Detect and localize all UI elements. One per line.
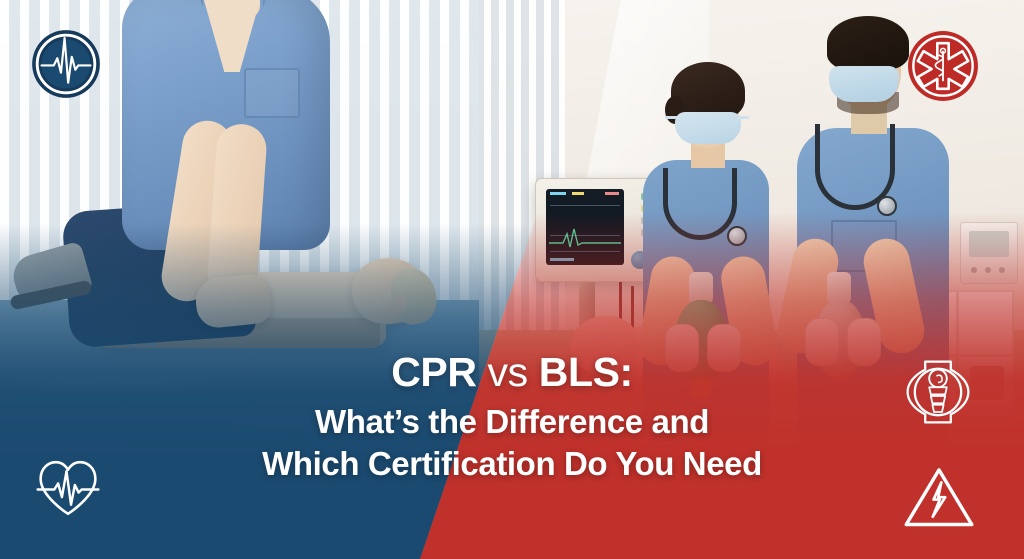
mask-ear-loop	[665, 116, 677, 119]
device-screen	[969, 231, 1009, 257]
title-line-2: What’s the Difference and	[0, 405, 1024, 438]
banner-title-block: CPR vs BLS: What’s the Difference and Wh…	[0, 352, 1024, 480]
title-bls: BLS:	[528, 349, 633, 395]
device-indicator	[971, 267, 977, 273]
title-cpr: CPR	[391, 349, 487, 395]
stethoscope-female	[663, 168, 737, 240]
stethoscope-bell	[877, 196, 897, 216]
title-line-3: Which Certification Do You Need	[0, 447, 1024, 480]
device-indicator	[999, 267, 1005, 273]
bedside-device	[960, 222, 1018, 284]
monitor-screen	[546, 189, 624, 265]
rescuer-stacked-hands	[194, 272, 273, 329]
title-line-1: CPR vs BLS:	[0, 352, 1024, 393]
cpr-vs-bls-banner: CPR vs BLS: What’s the Difference and Wh…	[0, 0, 1024, 559]
star-of-life-icon	[905, 28, 981, 104]
title-vs: vs	[488, 349, 528, 395]
manikin-ear	[392, 294, 407, 314]
device-indicator	[985, 267, 991, 273]
ecg-trace-icon	[549, 225, 621, 251]
rescuer-chest-pocket	[244, 68, 300, 118]
stethoscope-bell	[727, 226, 747, 246]
clinician-female-face-mask	[675, 112, 741, 144]
ecg-pulse-circle-icon	[30, 28, 102, 100]
mask-ear-loop	[737, 116, 749, 119]
patient-monitor	[535, 178, 659, 282]
clinician-male-hair	[827, 16, 909, 70]
clinician-male-face-mask	[829, 66, 899, 102]
